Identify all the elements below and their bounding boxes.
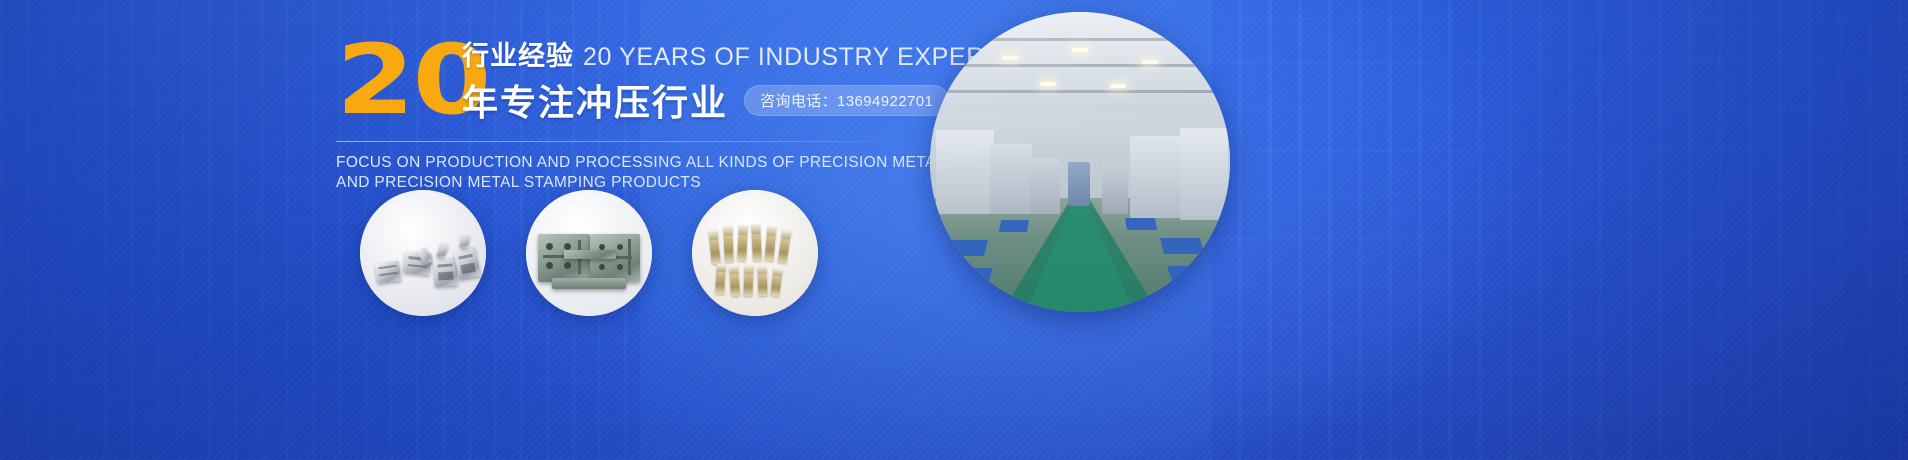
banner-subtext: FOCUS ON PRODUCTION AND PROCESSING ALL K… [336, 153, 896, 193]
photo-highlight [930, 12, 1230, 312]
banner-copy-block: 20 行业经验 20 YEARS OF INDUSTRY EXPERIENCE … [336, 34, 896, 193]
headline: 20 行业经验 20 YEARS OF INDUSTRY EXPERIENCE … [336, 34, 896, 130]
pin-terminal [757, 266, 767, 296]
focus-industry-cn: 年专注冲压行业 [462, 74, 728, 126]
product-circle-connectors[interactable] [360, 190, 486, 316]
product-circle-molds[interactable] [526, 190, 652, 316]
subtext-line-1: FOCUS ON PRODUCTION AND PROCESSING ALL K… [336, 153, 896, 173]
phone-badge[interactable]: 咨询电话：13694922701 [744, 85, 949, 116]
background-factory-ghost-right [1208, 0, 1908, 460]
headline-divider [336, 141, 888, 142]
product-circle-group [360, 190, 818, 316]
product-circle-pins[interactable] [692, 190, 818, 316]
pin-terminal [737, 225, 748, 261]
pin-terminal [723, 226, 733, 262]
connector-part [433, 257, 458, 287]
mold-base [552, 278, 626, 289]
connector-part [375, 260, 402, 283]
mold-rail [564, 250, 616, 259]
promo-banner: 20 行业经验 20 YEARS OF INDUSTRY EXPERIENCE … [0, 0, 1908, 460]
factory-photo-circle[interactable] [930, 12, 1230, 312]
experience-label-cn: 行业经验 [462, 34, 574, 73]
pin-terminal [743, 265, 753, 296]
pin-terminal [751, 224, 762, 261]
